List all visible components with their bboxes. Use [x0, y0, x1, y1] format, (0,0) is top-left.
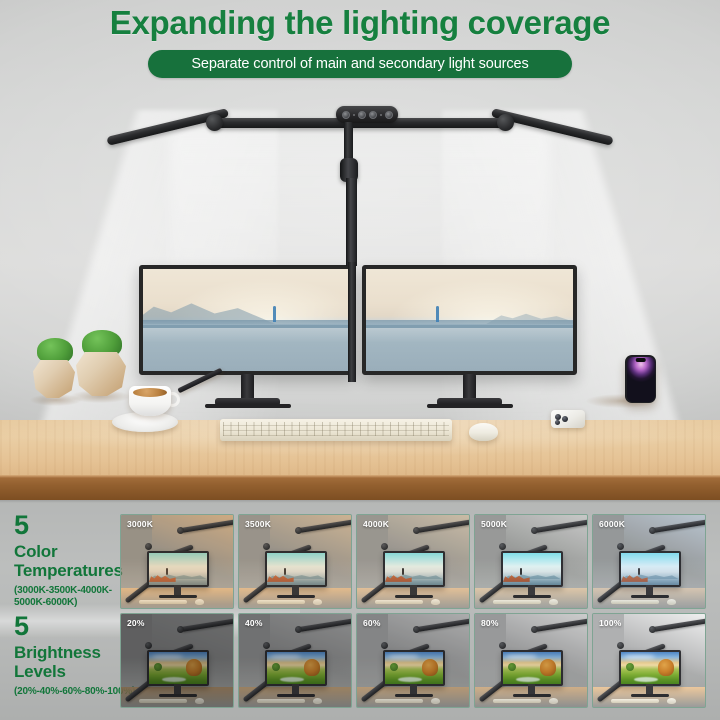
- brightness-thumbnail-grid: 20%40%60%80%100%: [120, 613, 706, 708]
- page-title: Expanding the lighting coverage: [0, 4, 720, 42]
- brightness-name: Brightness Levels: [14, 643, 135, 681]
- brightness-name-line1: Brightness: [14, 643, 135, 662]
- color-temperature-thumbnail-grid: 3000K3500K4000K5000K6000K: [120, 514, 706, 609]
- thumbnail-100%[interactable]: 100%: [592, 613, 706, 708]
- brightness-values: (20%-40%-60%-80%-100%): [14, 686, 135, 698]
- thumbnail-tag: 20%: [127, 618, 145, 628]
- screenshot-root: Expanding the lighting coverage Separate…: [0, 0, 720, 720]
- color-temperature-name-line2: Temperatures: [14, 561, 123, 580]
- color-temperature-count: 5: [14, 512, 123, 539]
- thumbnail-3000K[interactable]: 3000K: [120, 514, 234, 609]
- color-temperature-values-line1: (3000K-3500K-4000K-: [14, 585, 123, 597]
- thumbnail-80%[interactable]: 80%: [474, 613, 588, 708]
- lamp-main-post: [346, 178, 357, 266]
- thumbnail-tag: 100%: [599, 618, 622, 628]
- brightness-button-icon[interactable]: [358, 111, 366, 119]
- brightness-label-block: 5 Brightness Levels (20%-40%-60%-80%-100…: [14, 613, 135, 698]
- brightness-name-line2: Levels: [14, 662, 135, 681]
- indicator-dot-icon: [353, 114, 355, 116]
- thumbnail-3500K[interactable]: 3500K: [238, 514, 352, 609]
- brightness-count: 5: [14, 613, 135, 640]
- thumbnail-tag: 80%: [481, 618, 499, 628]
- thumbnail-5000K[interactable]: 5000K: [474, 514, 588, 609]
- mode-button-icon[interactable]: [369, 111, 377, 119]
- color-temperature-name: Color Temperatures: [14, 542, 123, 580]
- thumbnail-tag: 4000K: [363, 519, 389, 529]
- subtitle-badge: Separate control of main and secondary l…: [148, 50, 572, 78]
- thumbnail-4000K[interactable]: 4000K: [356, 514, 470, 609]
- power-button-icon[interactable]: [342, 111, 350, 119]
- thumbnail-6000K[interactable]: 6000K: [592, 514, 706, 609]
- thumbnail-tag: 60%: [363, 618, 381, 628]
- thumbnail-tag: 3000K: [127, 519, 153, 529]
- thumbnail-tag: 5000K: [481, 519, 507, 529]
- thumbnail-tag: 6000K: [599, 519, 625, 529]
- color-temp-button-icon[interactable]: [385, 111, 393, 119]
- lamp-control-panel[interactable]: [336, 106, 398, 123]
- color-temperature-values: (3000K-3500K-4000K- 5000K-6000K): [14, 585, 123, 609]
- thumbnail-60%[interactable]: 60%: [356, 613, 470, 708]
- thumbnail-20%[interactable]: 20%: [120, 613, 234, 708]
- color-temperature-values-line2: 5000K-6000K): [14, 597, 123, 609]
- color-temperature-name-line1: Color: [14, 542, 123, 561]
- thumbnail-40%[interactable]: 40%: [238, 613, 352, 708]
- indicator-dot-icon: [380, 114, 382, 116]
- thumbnail-tag: 40%: [245, 618, 263, 628]
- thumbnail-tag: 3500K: [245, 519, 271, 529]
- color-temperature-label-block: 5 Color Temperatures (3000K-3500K-4000K-…: [14, 512, 123, 609]
- specs-section: 5 Color Temperatures (3000K-3500K-4000K-…: [0, 500, 720, 720]
- lamp-lower-post: [348, 262, 356, 382]
- lamp-hinge-left: [206, 114, 223, 131]
- brightness-values-line1: (20%-40%-60%-80%-100%): [14, 686, 135, 698]
- subtitle-text: Separate control of main and secondary l…: [191, 56, 528, 72]
- lamp-hinge-right: [497, 114, 514, 131]
